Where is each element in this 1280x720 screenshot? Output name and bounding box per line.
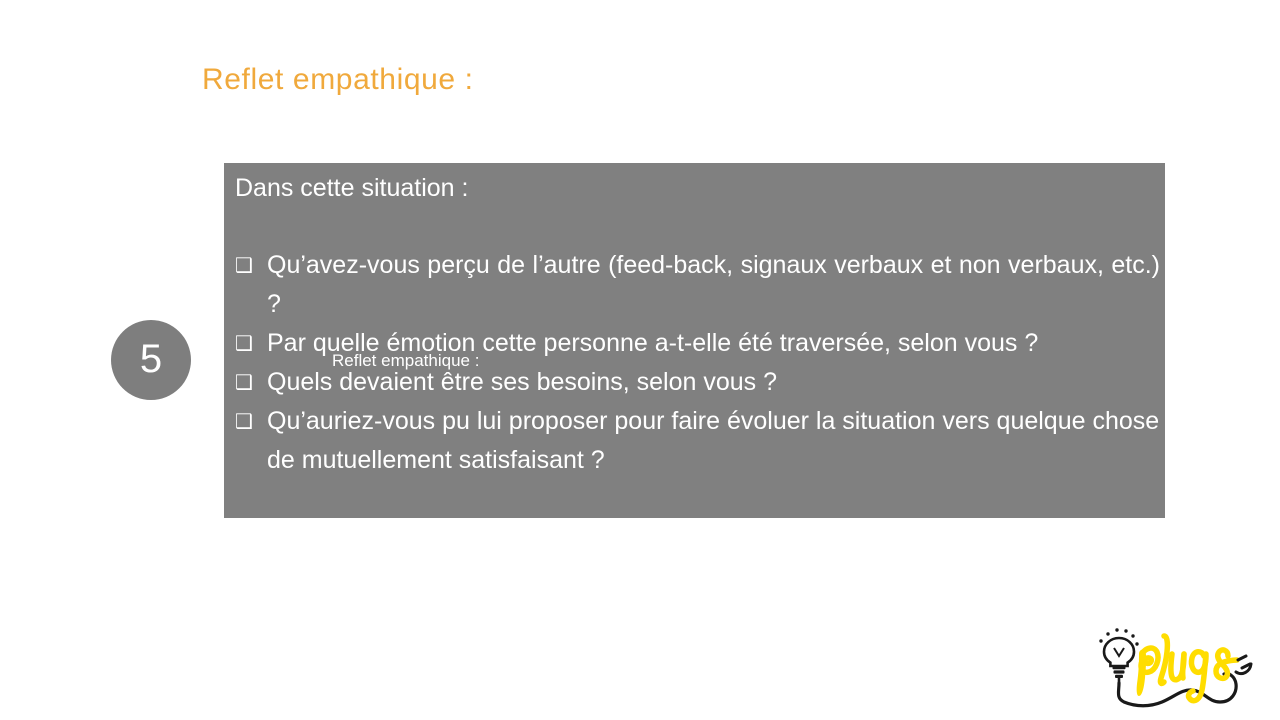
step-number-badge: 5 xyxy=(111,320,191,400)
square-bullet-icon: ❑ xyxy=(235,325,267,364)
list-item-label: Qu’avez-vous perçu de l’autre (feed-back… xyxy=(267,246,1160,324)
content-panel: Dans cette situation : ❑ Qu’avez-vous pe… xyxy=(224,163,1165,518)
page-title: Reflet empathique : xyxy=(202,60,474,100)
list-item: ❑ Qu’auriez-vous pu lui proposer pour fa… xyxy=(235,402,1160,480)
square-bullet-icon: ❑ xyxy=(235,364,267,403)
list-item: ❑ Qu’avez-vous perçu de l’autre (feed-ba… xyxy=(235,246,1160,324)
step-number-label: 5 xyxy=(140,339,162,379)
lightbulb-icon xyxy=(1099,628,1138,683)
square-bullet-icon: ❑ xyxy=(235,403,267,442)
brand-logo xyxy=(1092,626,1262,712)
intro-text: Dans cette situation : xyxy=(235,172,468,204)
square-bullet-icon: ❑ xyxy=(235,247,267,286)
power-plug-icon xyxy=(1236,656,1251,674)
overlay-caption: Reflet empathique : xyxy=(332,350,479,372)
list-item-label: Qu’auriez-vous pu lui proposer pour fair… xyxy=(267,402,1160,480)
